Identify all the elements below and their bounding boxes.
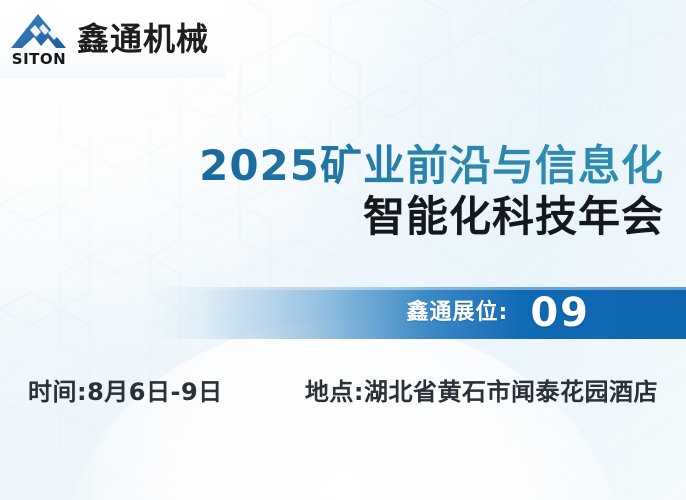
booth-banner: 鑫通展位: 09 <box>150 287 686 339</box>
booth-number: 09 <box>530 293 590 333</box>
event-poster: SITON 鑫通机械 2025矿业前沿与信息化 智能化科技年会 鑫通展位: 09… <box>0 0 686 500</box>
headline-line-1: 2025矿业前沿与信息化 <box>0 142 664 189</box>
mountain-peak-icon: SITON <box>8 11 70 67</box>
booth-label: 鑫通展位: <box>407 302 509 324</box>
event-info-row: 时间:8月6日-9日 地点:湖北省黄石市闻泰花园酒店 <box>28 372 658 407</box>
event-time: 时间:8月6日-9日 <box>28 372 223 407</box>
poster-headline: 2025矿业前沿与信息化 智能化科技年会 <box>0 142 664 240</box>
logo-chinese-text: 鑫通机械 <box>77 23 209 55</box>
background-bottom-arc <box>63 320 623 500</box>
event-place: 地点:湖北省黄石市闻泰花园酒店 <box>305 372 658 407</box>
logo-latin-text: SITON <box>12 50 66 67</box>
headline-line-2: 智能化科技年会 <box>0 193 664 240</box>
background-right-tint <box>309 0 686 500</box>
brand-logo: SITON 鑫通机械 <box>0 0 225 78</box>
